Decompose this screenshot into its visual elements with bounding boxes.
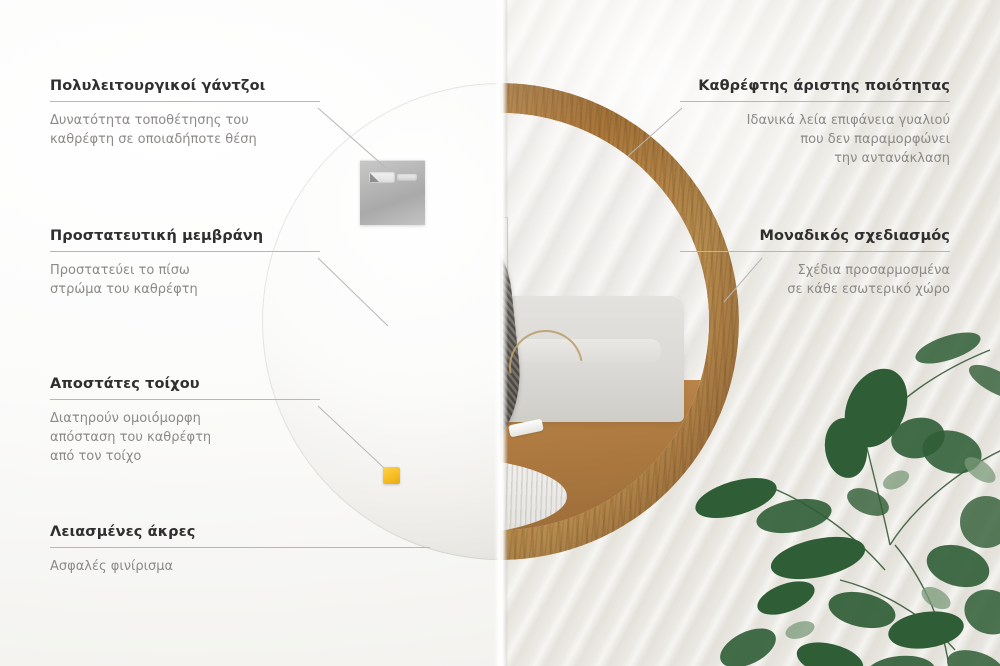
callout-spacers: Αποστάτες τοίχου Διατηρούν ομοιόμορφη απ… xyxy=(50,376,320,467)
callout-title: Λειασμένες άκρες xyxy=(50,524,430,540)
callout-hooks: Πολυλειτουργικοί γάντζοι Δυνατότητα τοπο… xyxy=(50,78,320,150)
callout-description-line: που δεν παραμορφώνει xyxy=(680,131,950,150)
callout-rule xyxy=(50,101,320,102)
decorative-foliage xyxy=(690,330,1000,666)
callout-description-line: Ασφαλές φινίρισμα xyxy=(50,558,430,577)
callout-description: Ασφαλές φινίρισμα xyxy=(50,558,430,577)
callout-description-line: από τον τοίχο xyxy=(50,448,320,467)
callout-rule xyxy=(50,251,320,252)
wall-spacer xyxy=(383,467,400,484)
hook-slot xyxy=(369,172,395,183)
callout-unique-design: Μοναδικός σχεδιασμός Σχέδια προσαρμοσμέν… xyxy=(680,228,950,300)
callout-description-line: σε κάθε εσωτερικό χώρο xyxy=(680,281,950,300)
callout-description: Σχέδια προσαρμοσμένα σε κάθε εσωτερικό χ… xyxy=(680,262,950,300)
callout-quality-mirror: Καθρέφτης άριστης ποιότητας Ιδανικά λεία… xyxy=(680,78,950,169)
callout-title: Πολυλειτουργικοί γάντζοι xyxy=(50,78,320,94)
callout-title: Μοναδικός σχεδιασμός xyxy=(680,228,950,244)
callout-description-line: Διατηρούν ομοιόμορφη xyxy=(50,410,320,429)
callout-membrane: Προστατευτική μεμβράνη Προστατεύει το πί… xyxy=(50,228,320,300)
callout-title: Προστατευτική μεμβράνη xyxy=(50,228,320,244)
callout-description-line: Προστατεύει το πίσω xyxy=(50,262,320,281)
callout-description: Ιδανικά λεία επιφάνεια γυαλιού που δεν π… xyxy=(680,112,950,169)
callout-rule xyxy=(680,251,950,252)
callout-description-line: την αντανάκλαση xyxy=(680,150,950,169)
callout-rule xyxy=(50,547,430,548)
callout-description-line: Σχέδια προσαρμοσμένα xyxy=(680,262,950,281)
callout-description-line: στρώμα του καθρέφτη xyxy=(50,281,320,300)
callout-description-line: Ιδανικά λεία επιφάνεια γυαλιού xyxy=(680,112,950,131)
callout-title: Αποστάτες τοίχου xyxy=(50,376,320,392)
callout-title: Καθρέφτης άριστης ποιότητας xyxy=(680,78,950,94)
infographic-canvas: Πολυλειτουργικοί γάντζοι Δυνατότητα τοπο… xyxy=(0,0,1000,666)
callout-description: Διατηρούν ομοιόμορφη απόσταση του καθρέφ… xyxy=(50,410,320,467)
callout-description-line: καθρέφτη σε οποιαδήποτε θέση xyxy=(50,131,320,150)
callout-description: Προστατεύει το πίσω στρώμα του καθρέφτη xyxy=(50,262,320,300)
mounting-hook-plate xyxy=(360,160,425,225)
callout-edges: Λειασμένες άκρες Ασφαλές φινίρισμα xyxy=(50,524,430,577)
callout-rule xyxy=(50,399,320,400)
half-split-seam xyxy=(494,0,508,666)
callout-description-line: απόσταση του καθρέφτη xyxy=(50,429,320,448)
callout-rule xyxy=(680,101,950,102)
callout-description: Δυνατότητα τοποθέτησης του καθρέφτη σε ο… xyxy=(50,112,320,150)
hook-bar xyxy=(397,174,417,181)
callout-description-line: Δυνατότητα τοποθέτησης του xyxy=(50,112,320,131)
